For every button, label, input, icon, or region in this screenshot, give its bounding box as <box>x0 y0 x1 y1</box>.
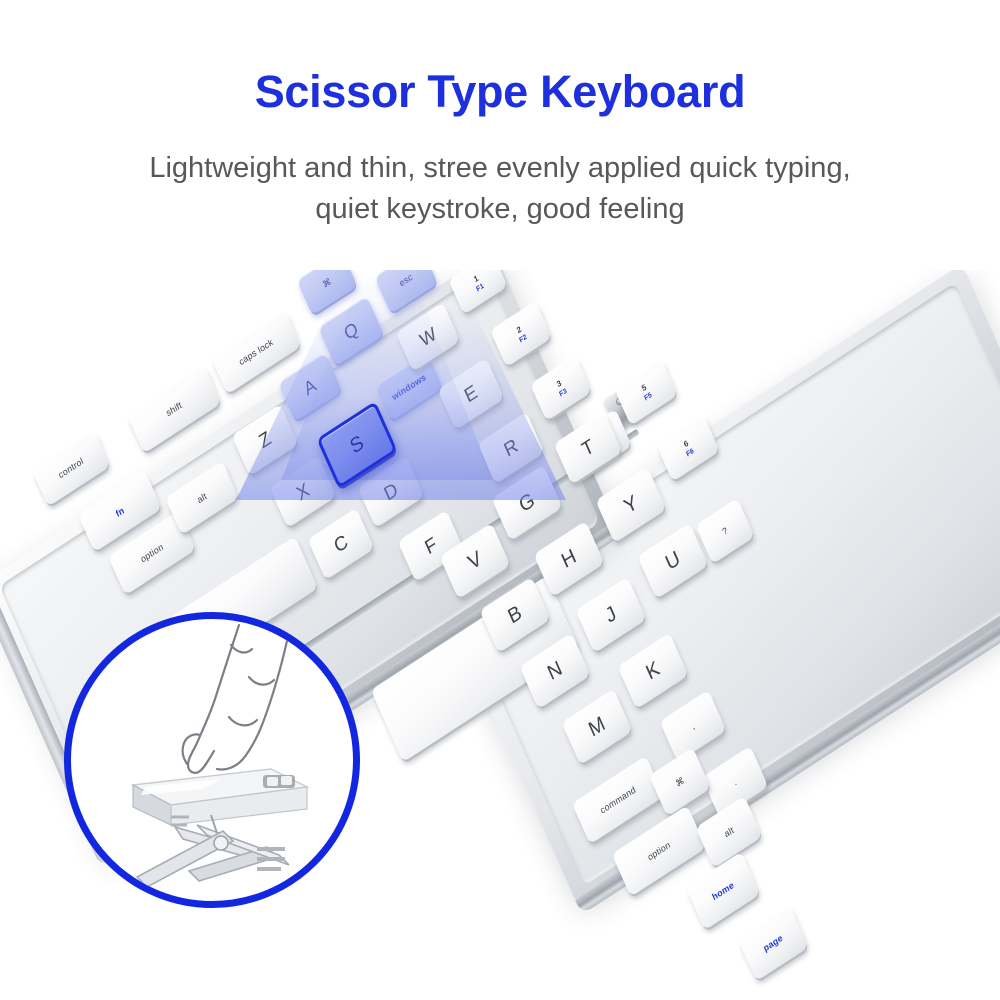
scissor-mechanism-inset <box>64 612 360 908</box>
key-Y-label: Y <box>621 492 640 518</box>
key-J-label: J <box>603 603 620 627</box>
key-F5-label: F5 <box>643 391 653 402</box>
key-W-label: W <box>417 324 439 350</box>
key-command-right-label: command <box>599 785 637 816</box>
subtitle-line-2: quiet keystroke, good feeling <box>60 189 940 230</box>
key-U-label: U <box>663 548 683 574</box>
key-command-symbol-label: ⌘ <box>674 775 685 788</box>
key-K-label: K <box>643 658 662 684</box>
key-option-left-label: option <box>139 542 164 564</box>
subtitle-line-1: Lightweight and thin, stree evenly appli… <box>149 152 850 184</box>
key-caps-lock-label: caps lock <box>238 337 275 367</box>
key-F-label: F <box>422 534 440 558</box>
scissor-switch-mechanism <box>137 815 289 887</box>
key-N-label: N <box>545 658 565 684</box>
key-shift-label: shift <box>165 400 183 418</box>
key-A-label: A <box>301 375 318 398</box>
key-option-right-label: option <box>646 840 671 862</box>
key-control-label: control <box>57 456 85 480</box>
key-R-label: R <box>501 435 520 460</box>
key-alt-right-label: alt <box>723 825 735 839</box>
key-H-label: H <box>559 546 579 572</box>
key-page[interactable]: page <box>738 905 809 981</box>
scissor-mechanism-illustration <box>71 619 353 901</box>
key-F6-number: 6 <box>683 439 690 449</box>
key-home[interactable]: home <box>686 852 760 930</box>
key-F2-label: F2 <box>518 333 528 344</box>
key-alt-left-label: alt <box>196 491 208 505</box>
finger-outline-icon <box>183 625 287 773</box>
key-C-label: C <box>331 531 350 556</box>
key-Q-label: Q <box>341 319 360 343</box>
key-M-label: M <box>586 713 608 741</box>
key-comma-label: , <box>690 721 696 731</box>
keycap-illustration <box>133 769 307 825</box>
key-F1-label: F1 <box>475 282 485 293</box>
key-esc-label: esc <box>398 272 414 288</box>
key-F5-number: 5 <box>641 383 648 393</box>
key-S-label: S <box>347 432 366 458</box>
key-F3-label: F3 <box>558 387 568 398</box>
key-fn-label: fn <box>114 505 125 518</box>
key-T-label: T <box>579 436 597 460</box>
key-F2-number: 2 <box>516 325 523 335</box>
page-title: Scissor Type Keyboard <box>0 66 1000 118</box>
key-D-label: D <box>381 479 400 504</box>
key-E-label: E <box>462 382 480 406</box>
product-banner: Scissor Type Keyboard Lightweight and th… <box>0 0 1000 1000</box>
page-subtitle: Lightweight and thin, stree evenly appli… <box>60 148 940 230</box>
key-G-label: G <box>516 490 537 517</box>
key-X-label: X <box>294 480 312 504</box>
key-home-label: home <box>711 880 736 902</box>
key-command-left-label: ⌘ <box>321 276 332 289</box>
key-B-label: B <box>505 602 524 628</box>
key-period-label: . <box>732 777 738 787</box>
key-windows-label: windows <box>391 372 428 402</box>
key-V-label: V <box>465 548 484 574</box>
key-page-label: page <box>762 933 784 953</box>
key-F3-number: 3 <box>556 379 563 389</box>
key-F6-label: F6 <box>685 447 695 458</box>
key-Z-label: Z <box>256 428 274 452</box>
key-F1-number: 1 <box>473 274 480 284</box>
key-control[interactable]: control <box>32 429 111 506</box>
key-slash-label: ? <box>721 525 729 536</box>
